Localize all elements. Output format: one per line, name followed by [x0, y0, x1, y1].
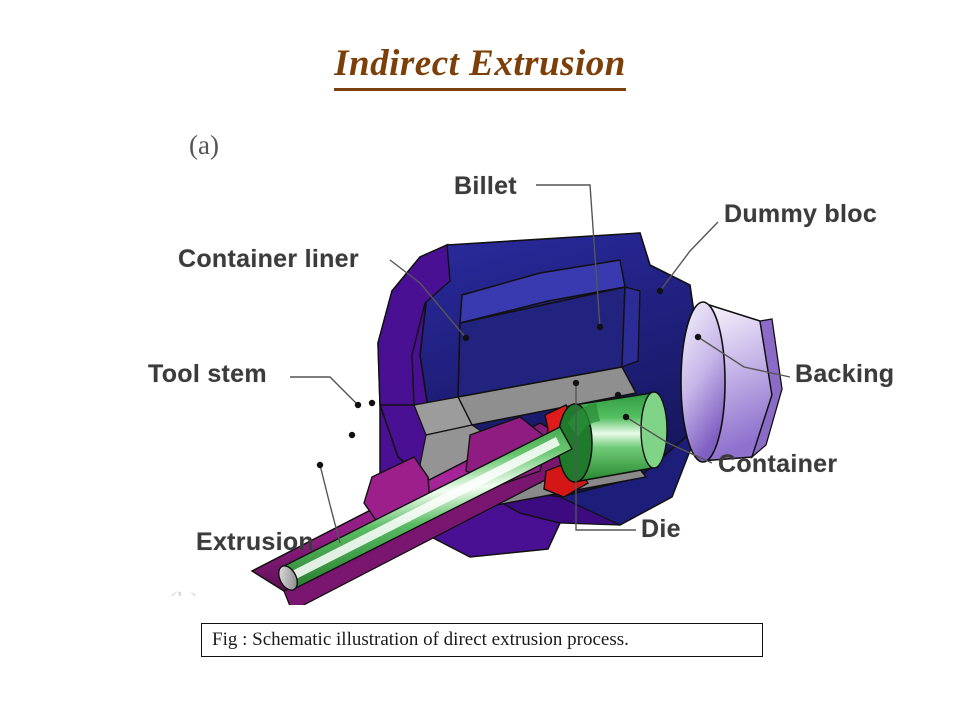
panel-label-b: (b): [168, 587, 199, 596]
label-container: Container: [718, 450, 837, 479]
label-die: Die: [641, 515, 681, 544]
label-billet: Billet: [454, 172, 517, 201]
label-backing: Backing: [795, 360, 894, 389]
panel-label-a: (a): [189, 130, 219, 161]
label-extrusion: Extrusion: [196, 528, 314, 557]
figure-diagram: Billet Container liner Dummy bloc Backin…: [0, 105, 960, 605]
label-container-liner: Container liner: [178, 245, 359, 274]
page-title-text: Indirect Extrusion: [334, 42, 626, 91]
billet-cylinder: [558, 392, 667, 482]
figure-caption-box: Fig : Schematic illustration of direct e…: [201, 623, 763, 657]
figure-caption-text: Fig : Schematic illustration of direct e…: [202, 624, 762, 656]
label-tool-stem: Tool stem: [148, 360, 267, 389]
backing-dummy-block: [681, 302, 782, 462]
label-dummy-block: Dummy bloc: [724, 200, 877, 229]
page-title: Indirect Extrusion: [0, 42, 960, 91]
